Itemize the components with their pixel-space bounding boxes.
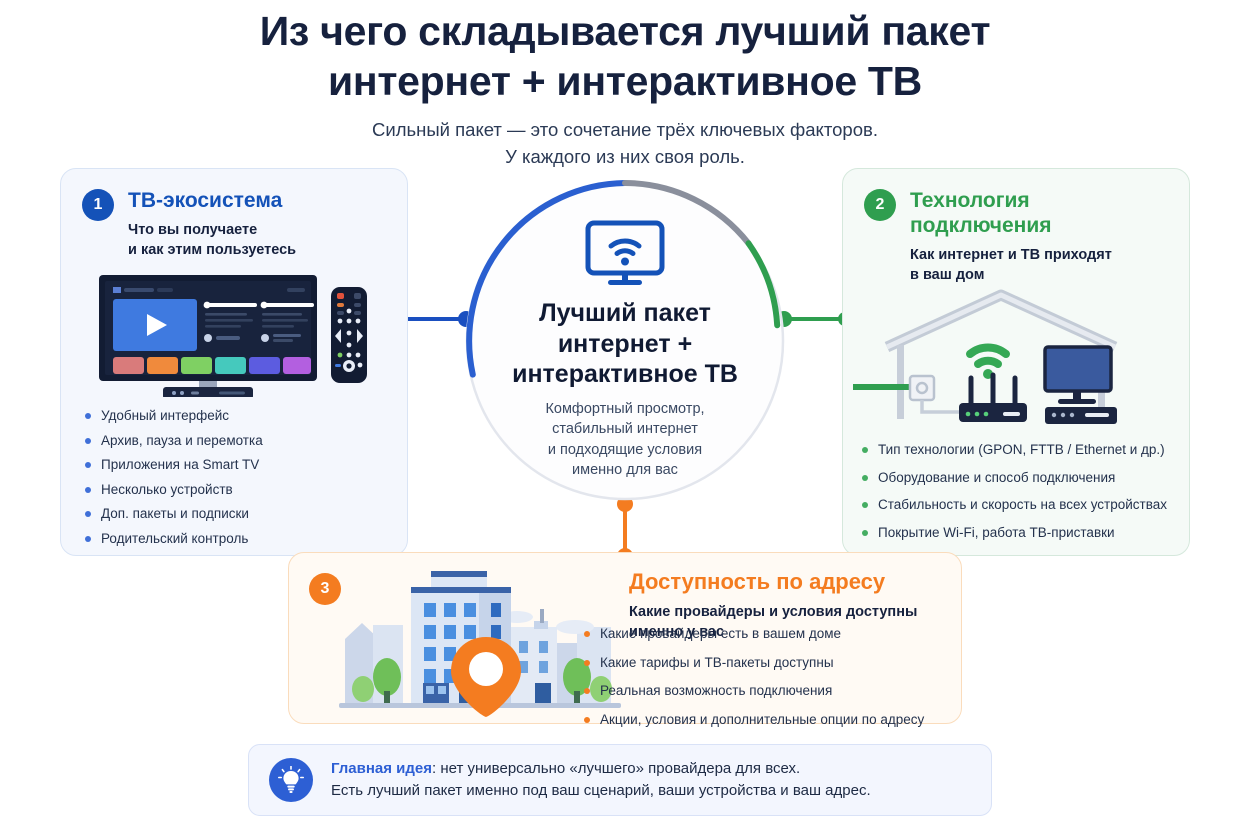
bullet-text: Несколько устройств: [101, 481, 233, 499]
card-addr-title: Доступность по адресу: [629, 569, 961, 595]
bullet-dot-icon: [862, 475, 868, 481]
bullet-text: Покрытие Wi-Fi, работа ТВ-приставки: [878, 524, 1115, 542]
card-tech-badge: 2: [864, 189, 896, 221]
key-idea-line1-rest: : нет универсально «лучшего» провайдера …: [432, 760, 800, 777]
card-address-availability[interactable]: 3: [288, 552, 962, 724]
list-item: Реальная возможность подключения: [584, 682, 954, 700]
bullet-text: Какие тарифы и ТВ-пакеты доступны: [600, 654, 834, 672]
bullet-dot-icon: [862, 447, 868, 453]
lightbulb-icon: [269, 758, 313, 802]
bullet-text: Акции, условия и дополнительные опции по…: [600, 711, 924, 729]
center-title-line1: Лучший пакет: [512, 298, 738, 329]
card-tech-subtitle-line1: Как интернет и ТВ приходят: [910, 245, 1112, 265]
bullet-text: Реальная возможность подключения: [600, 682, 832, 700]
card-addr-bullets: Какие провайдеры есть в вашем доме Какие…: [584, 625, 954, 735]
bullet-dot-icon: [584, 660, 590, 666]
house-router-tv-illustration: [853, 281, 1183, 426]
header: Из чего складывается лучший пакет интерн…: [0, 6, 1250, 171]
bullet-text: Доп. пакеты и подписки: [101, 505, 249, 523]
list-item: Несколько устройств: [85, 481, 385, 499]
bullet-dot-icon: [85, 536, 91, 542]
page-subtitle-line1: Сильный пакет — это сочетание трёх ключе…: [0, 117, 1250, 144]
bullet-dot-icon: [862, 530, 868, 536]
list-item: Какие тарифы и ТВ-пакеты доступны: [584, 654, 954, 672]
card-tv-title: ТВ-экосистема: [128, 189, 296, 214]
city-buildings-map-pin-illustration: [339, 565, 621, 717]
bullet-dot-icon: [85, 462, 91, 468]
bullet-dot-icon: [862, 502, 868, 508]
list-item: Приложения на Smart TV: [85, 456, 385, 474]
infographic-page: Из чего складывается лучший пакет интерн…: [0, 0, 1250, 833]
card-tech-title-line2: подключения: [910, 214, 1112, 239]
card-tv-subtitle: Что вы получаете и как этим пользуетесь: [128, 220, 296, 260]
bullet-text: Стабильность и скорость на всех устройст…: [878, 496, 1167, 514]
list-item: Стабильность и скорость на всех устройст…: [862, 496, 1182, 514]
center-title-line3: интерактивное ТВ: [512, 359, 738, 390]
list-item: Покрытие Wi-Fi, работа ТВ-приставки: [862, 524, 1182, 542]
bullet-dot-icon: [584, 631, 590, 637]
bullet-text: Родительский контроль: [101, 530, 248, 548]
key-idea-banner: Главная идея: нет универсально «лучшего»…: [248, 744, 992, 816]
card-addr-badge: 3: [309, 573, 341, 605]
card-tech-bullets: Тип технологии (GPON, FTTB / Ethernet и …: [862, 441, 1182, 548]
card-tech-header: 2 Технология подключения Как интернет и …: [864, 189, 1112, 285]
center-title-line2: интернет +: [512, 329, 738, 360]
page-title: Из чего складывается лучший пакет интерн…: [0, 6, 1250, 106]
card-connection-technology[interactable]: 2 Технология подключения Как интернет и …: [842, 168, 1190, 556]
bullet-dot-icon: [584, 717, 590, 723]
bullet-text: Архив, пауза и перемотка: [101, 432, 263, 450]
center-desc-line2: стабильный интернет: [545, 419, 704, 440]
card-tv-badge: 1: [82, 189, 114, 221]
page-title-line2: интернет + интерактивное ТВ: [0, 56, 1250, 106]
page-subtitle: Сильный пакет — это сочетание трёх ключе…: [0, 117, 1250, 171]
center-circle: Лучший пакет интернет + интерактивное ТВ…: [462, 178, 788, 504]
center-description: Комфортный просмотр, стабильный интернет…: [545, 399, 704, 481]
key-idea-line2: Есть лучший пакет именно под ваш сценари…: [331, 780, 871, 803]
list-item: Доп. пакеты и подписки: [85, 505, 385, 523]
list-item: Удобный интерфейс: [85, 407, 385, 425]
list-item: Какие провайдеры есть в вашем доме: [584, 625, 954, 643]
center-desc-line4: именно для вас: [545, 460, 704, 481]
bullet-text: Тип технологии (GPON, FTTB / Ethernet и …: [878, 441, 1165, 459]
center-desc-line1: Комфортный просмотр,: [545, 399, 704, 420]
bullet-dot-icon: [85, 413, 91, 419]
bullet-text: Оборудование и способ подключения: [878, 469, 1115, 487]
card-tv-bullets: Удобный интерфейс Архив, пауза и перемот…: [85, 407, 385, 554]
card-tech-subtitle: Как интернет и ТВ приходят в ваш дом: [910, 245, 1112, 285]
key-idea-label: Главная идея: [331, 760, 432, 777]
key-idea-text: Главная идея: нет универсально «лучшего»…: [331, 758, 871, 803]
list-item: Оборудование и способ подключения: [862, 469, 1182, 487]
center-title: Лучший пакет интернет + интерактивное ТВ: [512, 298, 738, 390]
list-item: Архив, пауза и перемотка: [85, 432, 385, 450]
bullet-text: Какие провайдеры есть в вашем доме: [600, 625, 841, 643]
card-tv-subtitle-line1: Что вы получаете: [128, 220, 296, 240]
center-desc-line3: и подходящие условия: [545, 440, 704, 461]
bullet-dot-icon: [85, 487, 91, 493]
tv-wifi-icon: [579, 220, 671, 288]
bullet-dot-icon: [584, 688, 590, 694]
bullet-text: Приложения на Smart TV: [101, 456, 259, 474]
list-item: Тип технологии (GPON, FTTB / Ethernet и …: [862, 441, 1182, 459]
bullet-text: Удобный интерфейс: [101, 407, 229, 425]
card-tech-title: Технология подключения: [910, 189, 1112, 239]
card-tv-ecosystem[interactable]: 1 ТВ-экосистема Что вы получаете и как э…: [60, 168, 408, 556]
center-circle-content: Лучший пакет интернет + интерактивное ТВ…: [462, 178, 788, 504]
card-tech-title-line1: Технология: [910, 189, 1112, 214]
tv-and-remote-illustration: [95, 273, 377, 397]
list-item: Акции, условия и дополнительные опции по…: [584, 711, 954, 729]
bullet-dot-icon: [85, 438, 91, 444]
page-title-line1: Из чего складывается лучший пакет: [0, 6, 1250, 56]
key-idea-line1: Главная идея: нет универсально «лучшего»…: [331, 758, 871, 781]
list-item: Родительский контроль: [85, 530, 385, 548]
bullet-dot-icon: [85, 511, 91, 517]
card-tv-subtitle-line2: и как этим пользуетесь: [128, 240, 296, 260]
card-tv-header: 1 ТВ-экосистема Что вы получаете и как э…: [82, 189, 296, 260]
page-subtitle-line2: У каждого из них своя роль.: [0, 144, 1250, 171]
